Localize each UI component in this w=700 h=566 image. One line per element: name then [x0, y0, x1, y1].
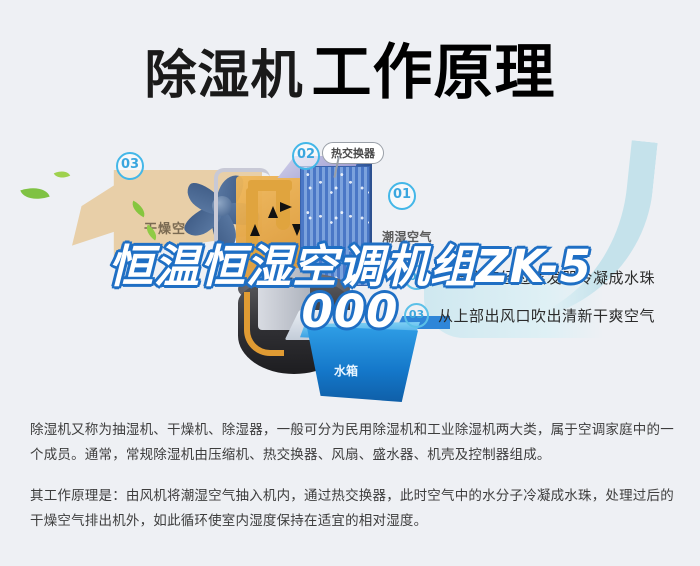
legend-badge: 02: [404, 265, 429, 290]
leaf-icon: [20, 182, 49, 204]
legend-text: 潮湿空气经过蒸发器冷凝成水珠: [438, 267, 655, 288]
legend-text: 从上部出风口吹出清新干爽空气: [438, 305, 655, 326]
legend-badge: 03: [404, 303, 429, 328]
flow-arrow-icon: [280, 202, 292, 212]
title-lead: 除湿机: [144, 46, 303, 106]
legend-list: 02 潮湿空气经过蒸发器冷凝成水珠 03 从上部出风口吹出清新干爽空气: [404, 258, 694, 334]
description-block: 除湿机又称为抽湿机、干燥机、除湿器，一般可分为民用除湿机和工业除湿机两大类，属于…: [30, 418, 678, 550]
list-item: 02 潮湿空气经过蒸发器冷凝成水珠: [404, 258, 694, 296]
title-main: 工作原理: [312, 38, 556, 108]
paragraph-1: 除湿机又称为抽湿机、干燥机、除湿器，一般可分为民用除湿机和工业除湿机两大类，属于…: [30, 418, 678, 468]
callout-badge-02: 02: [292, 142, 320, 170]
callout-badge-03: 03: [116, 152, 144, 180]
leaf-icon: [54, 167, 70, 181]
infographic-page: 除湿机工作原理 干燥空气 压缩机: [0, 0, 700, 566]
coil-segment: [248, 180, 292, 191]
flow-arrow-icon: [268, 206, 278, 218]
compressor-label: 压缩机: [264, 274, 294, 289]
paragraph-2: 其工作原理是：由风机将潮湿空气抽入机内，通过热交换器，此时空气中的水分子冷凝成水…: [30, 484, 678, 534]
water-tank-label: 水箱: [334, 362, 358, 379]
list-item: 03 从上部出风口吹出清新干爽空气: [404, 296, 694, 334]
flow-arrow-icon: [250, 224, 260, 236]
compressor-tube: [244, 292, 284, 356]
heat-exchanger-callout: 热交换器: [322, 142, 384, 164]
callout-badge-01: 01: [388, 182, 416, 210]
page-title: 除湿机工作原理: [0, 24, 700, 111]
water-tank: [302, 326, 418, 402]
moist-air-label: 潮湿空气: [382, 228, 432, 245]
heat-exchanger-fins: [300, 166, 370, 286]
